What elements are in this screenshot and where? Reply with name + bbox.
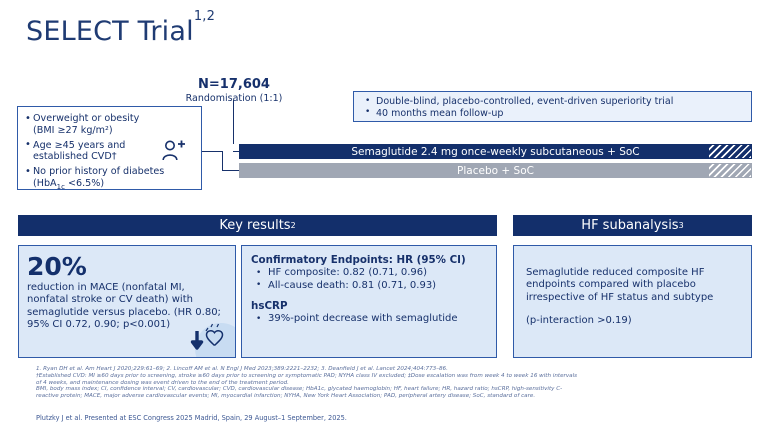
treatment-arm-semaglutide: Semaglutide 2.4 mg once-weekly subcutane… bbox=[239, 144, 752, 159]
hscrp-title: hsCRP bbox=[251, 300, 487, 312]
hscrp-list: 39%-point decrease with semaglutide bbox=[251, 313, 487, 326]
footnote-abbreviations-1: BMI, body mass index; CI, confidence int… bbox=[36, 386, 736, 393]
slide-root: SELECT Trial1,2 N=17,604 Randomisation (… bbox=[0, 0, 768, 432]
randomisation-block: N=17,604 Randomisation (1:1) bbox=[154, 77, 314, 104]
person-plus-icon bbox=[161, 139, 187, 165]
hatched-followup-placebo bbox=[708, 163, 752, 178]
criteria-item-2-line2: (HbA1c <6.5%) bbox=[33, 178, 104, 189]
mace-reduction-value: 20% bbox=[27, 253, 227, 280]
treatment-arm-semaglutide-label: Semaglutide 2.4 mg once-weekly subcutane… bbox=[351, 146, 639, 158]
list-item: Double-blind, placebo-controlled, event-… bbox=[362, 96, 743, 108]
footnote-definitions-1: †Established CVD: MI ≥60 days prior to s… bbox=[36, 373, 736, 380]
connector-vertical-split bbox=[222, 151, 223, 171]
trial-design-list: Double-blind, placebo-controlled, event-… bbox=[362, 96, 743, 119]
randomisation-n: N=17,604 bbox=[154, 77, 314, 92]
connector-arrow-stem bbox=[233, 130, 234, 144]
footnotes: 1. Ryan DH et al. Am Heart J 2020;229:61… bbox=[36, 366, 736, 400]
hf-subanalysis-body: Semaglutide reduced composite HF endpoin… bbox=[526, 267, 739, 304]
mace-reduction-panel: 20% reduction in MACE (nonfatal MI, nonf… bbox=[18, 245, 236, 358]
footnote-abbreviations-2: reactive protein; MACE, major adverse ca… bbox=[36, 393, 736, 400]
treatment-arm-placebo: Placebo + SoC bbox=[239, 163, 752, 178]
criteria-item-2-line1: No prior history of diabetes bbox=[33, 166, 164, 177]
criteria-item-0-line2: (BMI ≥27 kg/m²) bbox=[33, 125, 113, 136]
list-item: No prior history of diabetes (HbA1c <6.5… bbox=[25, 166, 194, 193]
section-header-hf-subanalysis: HF subanalysis3 bbox=[513, 215, 752, 236]
spacer bbox=[526, 256, 739, 267]
section-header-key-results-ref: 2 bbox=[291, 221, 296, 230]
section-header-hf-subanalysis-label: HF subanalysis bbox=[581, 218, 678, 233]
list-item: All-cause death: 0.81 (0.71, 0.93) bbox=[251, 280, 487, 293]
confirmatory-endpoints-title: Confirmatory Endpoints: HR (95% CI) bbox=[251, 254, 487, 266]
criteria-item-0-line1: Overweight or obesity bbox=[33, 113, 139, 124]
footnote-references: 1. Ryan DH et al. Am Heart J 2020;229:61… bbox=[36, 366, 736, 373]
spacer bbox=[526, 304, 739, 315]
endpoints-panel: Confirmatory Endpoints: HR (95% CI) HF c… bbox=[241, 245, 497, 358]
list-item: 39%-point decrease with semaglutide bbox=[251, 313, 487, 326]
trial-design-box: Double-blind, placebo-controlled, event-… bbox=[353, 91, 752, 122]
randomisation-ratio: Randomisation (1:1) bbox=[154, 93, 314, 104]
hf-p-interaction: (p-interaction >0.19) bbox=[526, 315, 739, 327]
arrow-down-heart-icon bbox=[169, 305, 235, 357]
connector-horizontal-from-criteria bbox=[202, 151, 223, 152]
criteria-item-1-line1: Age ≥45 years and bbox=[33, 140, 125, 151]
section-header-hf-subanalysis-ref: 3 bbox=[679, 221, 684, 230]
list-item: HF composite: 0.82 (0.71, 0.96) bbox=[251, 267, 487, 280]
treatment-arm-placebo-label: Placebo + SoC bbox=[457, 165, 534, 177]
inclusion-criteria-box: Overweight or obesity (BMI ≥27 kg/m²) Ag… bbox=[17, 106, 202, 190]
page-title: SELECT Trial1,2 bbox=[26, 16, 215, 47]
hf-subanalysis-panel: Semaglutide reduced composite HF endpoin… bbox=[513, 245, 752, 358]
page-title-text: SELECT Trial bbox=[26, 16, 194, 47]
confirmatory-endpoints-list: HF composite: 0.82 (0.71, 0.96) All-caus… bbox=[251, 267, 487, 292]
criteria-item-1-line2: established CVD† bbox=[33, 151, 117, 162]
hatched-followup-semaglutide bbox=[708, 144, 752, 159]
footnote-definitions-2: of 4 weeks, and maintenance dosing was e… bbox=[36, 380, 736, 387]
list-item: Overweight or obesity (BMI ≥27 kg/m²) bbox=[25, 113, 194, 136]
section-header-key-results: Key results2 bbox=[18, 215, 497, 236]
spacer bbox=[251, 292, 487, 300]
list-item: 40 months mean follow-up bbox=[362, 108, 743, 120]
presentation-credit: Plutzky J et al. Presented at ESC Congre… bbox=[36, 414, 347, 422]
page-title-references: 1,2 bbox=[194, 9, 215, 24]
section-header-key-results-label: Key results bbox=[219, 218, 290, 233]
